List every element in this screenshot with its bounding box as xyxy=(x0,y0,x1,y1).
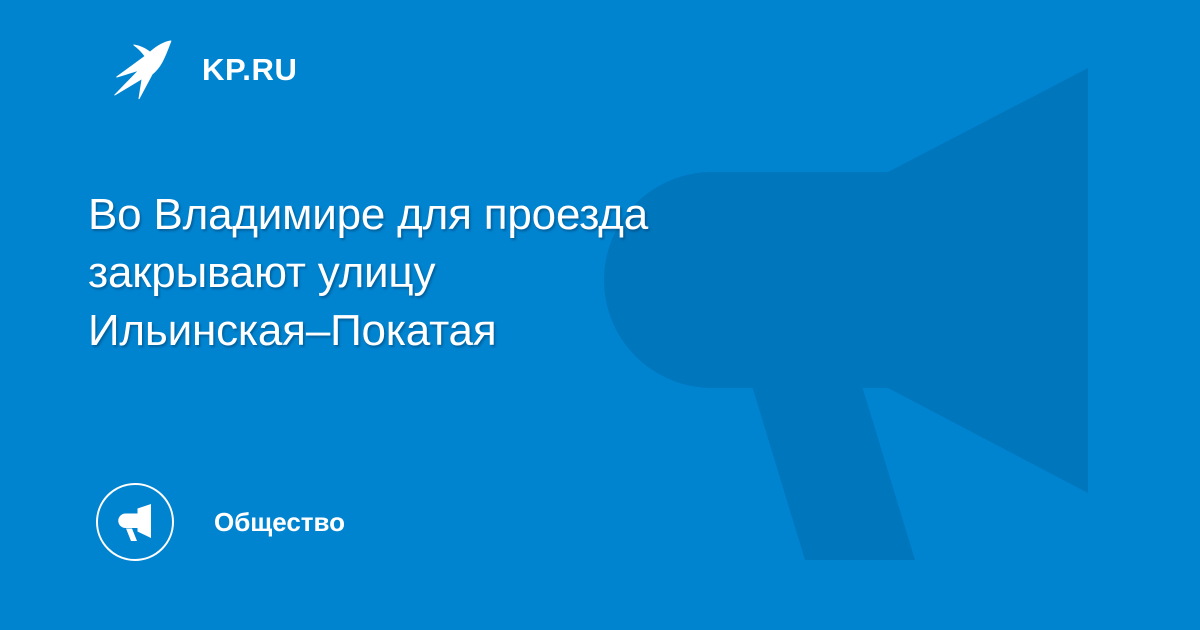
share-card: KP.RU Во Владимире для проезда закрывают… xyxy=(0,0,1200,630)
category-label: Общество xyxy=(214,509,345,535)
page-title: Во Владимире для проезда закрывают улицу… xyxy=(88,186,928,360)
megaphone-icon xyxy=(113,500,157,544)
headline-line-3: Ильинская–Покатая xyxy=(88,302,928,360)
category-badge[interactable]: Общество xyxy=(96,482,345,562)
swallow-bird-icon xyxy=(102,38,176,100)
brand-logo[interactable]: KP.RU xyxy=(102,36,297,102)
headline-line-1: Во Владимире для проезда xyxy=(88,186,928,244)
headline-line-2: закрывают улицу xyxy=(88,244,928,302)
category-icon-circle xyxy=(96,483,174,561)
brand-wordmark: KP.RU xyxy=(202,54,297,85)
